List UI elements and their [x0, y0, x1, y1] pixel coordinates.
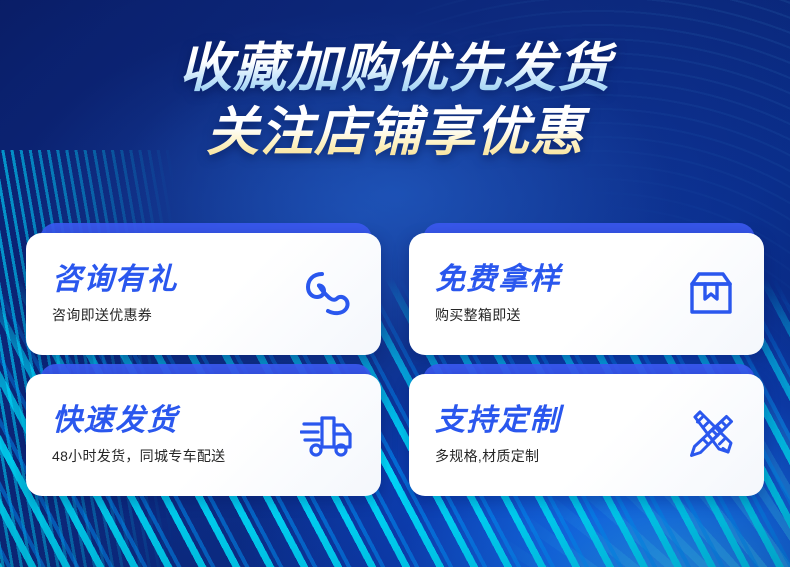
headline-block: 收藏加购优先发货 关注店铺享优惠 — [0, 40, 790, 161]
card-title: 免费拿样 — [435, 263, 672, 296]
card-title: 咨询有礼 — [52, 263, 289, 296]
card-subtitle: 咨询即送优惠券 — [52, 305, 289, 325]
card-text-block: 咨询有礼 咨询即送优惠券 — [52, 263, 289, 325]
benefit-card-free-sample[interactable]: 免费拿样 购买整箱即送 — [409, 233, 764, 355]
benefit-card-grid: 咨询有礼 咨询即送优惠券 免费拿样 购买整箱即送 — [26, 233, 764, 496]
card-surface[interactable]: 快速发货 48小时发货，同城专车配送 — [26, 374, 381, 496]
card-text-block: 快速发货 48小时发货，同城专车配送 — [52, 404, 289, 466]
phone-handset-icon — [297, 263, 359, 325]
headline-line-2: 关注店铺享优惠 — [0, 104, 790, 161]
benefit-card-fast-shipping[interactable]: 快速发货 48小时发货，同城专车配送 — [26, 374, 381, 496]
card-title: 支持定制 — [435, 404, 672, 437]
delivery-truck-icon — [297, 404, 359, 466]
card-text-block: 支持定制 多规格,材质定制 — [435, 404, 672, 466]
headline-line-1: 收藏加购优先发货 — [0, 40, 790, 97]
card-title: 快速发货 — [52, 404, 289, 437]
card-subtitle: 多规格,材质定制 — [435, 446, 672, 466]
card-surface[interactable]: 支持定制 多规格,材质定制 — [409, 374, 764, 496]
card-surface[interactable]: 咨询有礼 咨询即送优惠券 — [26, 233, 381, 355]
benefit-card-consult-gift[interactable]: 咨询有礼 咨询即送优惠券 — [26, 233, 381, 355]
card-subtitle: 购买整箱即送 — [435, 305, 672, 325]
benefit-card-customization[interactable]: 支持定制 多规格,材质定制 — [409, 374, 764, 496]
promo-banner: 收藏加购优先发货 关注店铺享优惠 咨询有礼 咨询即送优惠券 — [0, 0, 790, 567]
card-surface[interactable]: 免费拿样 购买整箱即送 — [409, 233, 764, 355]
package-box-icon — [680, 263, 742, 325]
card-text-block: 免费拿样 购买整箱即送 — [435, 263, 672, 325]
ruler-pencil-icon — [680, 404, 742, 466]
card-subtitle: 48小时发货，同城专车配送 — [52, 446, 289, 466]
